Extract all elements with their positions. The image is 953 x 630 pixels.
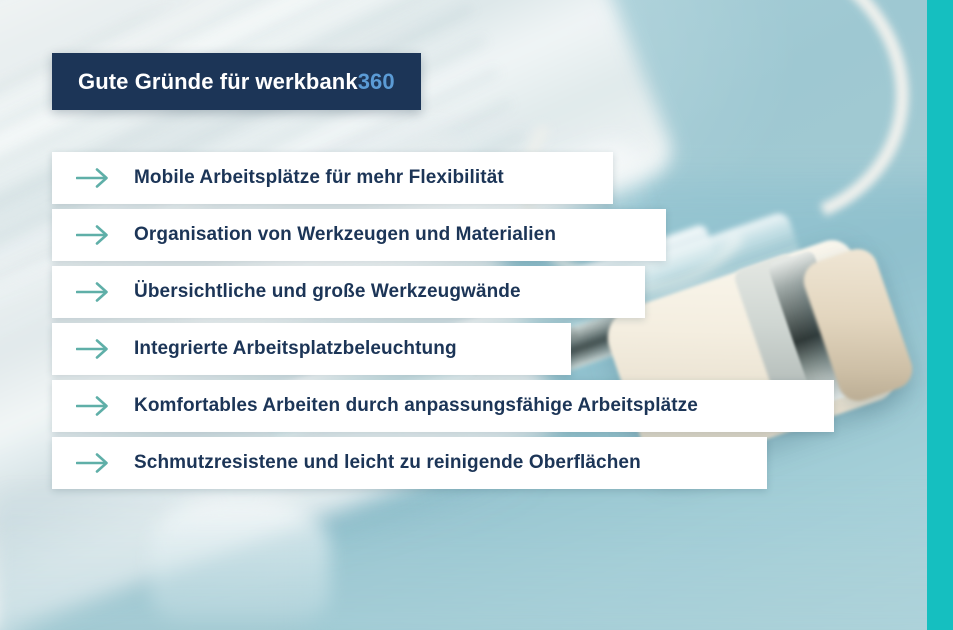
benefit-row[interactable]: Übersichtliche und große Werkzeugwände — [52, 266, 645, 318]
benefit-row[interactable]: Schmutzresistene und leicht zu reinigend… — [52, 437, 767, 489]
benefit-label: Übersichtliche und große Werkzeugwände — [134, 281, 521, 303]
benefit-label: Schmutzresistene und leicht zu reinigend… — [134, 452, 641, 474]
benefit-label: Organisation von Werkzeugen und Material… — [134, 224, 556, 246]
arrow-right-icon — [52, 338, 134, 360]
header-title: Gute Gründe fürwerkbank360 — [78, 69, 395, 95]
benefit-label: Mobile Arbeitsplätze für mehr Flexibilit… — [134, 167, 504, 189]
benefit-row[interactable]: Organisation von Werkzeugen und Material… — [52, 209, 666, 261]
arrow-right-icon — [52, 281, 134, 303]
arrow-right-icon — [52, 167, 134, 189]
brand-name: werkbank — [255, 69, 357, 94]
arrow-right-icon — [52, 224, 134, 246]
arrow-right-icon — [52, 395, 134, 417]
brand-suffix-360: 360 — [358, 69, 395, 94]
benefit-label: Komfortables Arbeiten durch anpassungsfä… — [134, 395, 698, 417]
right-accent-bar — [927, 0, 953, 630]
foreground-blur-overlay — [0, 480, 953, 630]
header-ribbon: Gute Gründe fürwerkbank360 — [52, 53, 421, 110]
benefit-row[interactable]: Integrierte Arbeitsplatzbeleuchtung — [52, 323, 571, 375]
header-title-prefix: Gute Gründe für — [78, 69, 249, 94]
benefit-row[interactable]: Mobile Arbeitsplätze für mehr Flexibilit… — [52, 152, 613, 204]
arrow-right-icon — [52, 452, 134, 474]
benefit-label: Integrierte Arbeitsplatzbeleuchtung — [134, 338, 457, 360]
benefit-row[interactable]: Komfortables Arbeiten durch anpassungsfä… — [52, 380, 834, 432]
promo-banner: Gute Gründe fürwerkbank360 Mobile Arbeit… — [0, 0, 953, 630]
benefits-list: Mobile Arbeitsplätze für mehr Flexibilit… — [52, 152, 834, 489]
